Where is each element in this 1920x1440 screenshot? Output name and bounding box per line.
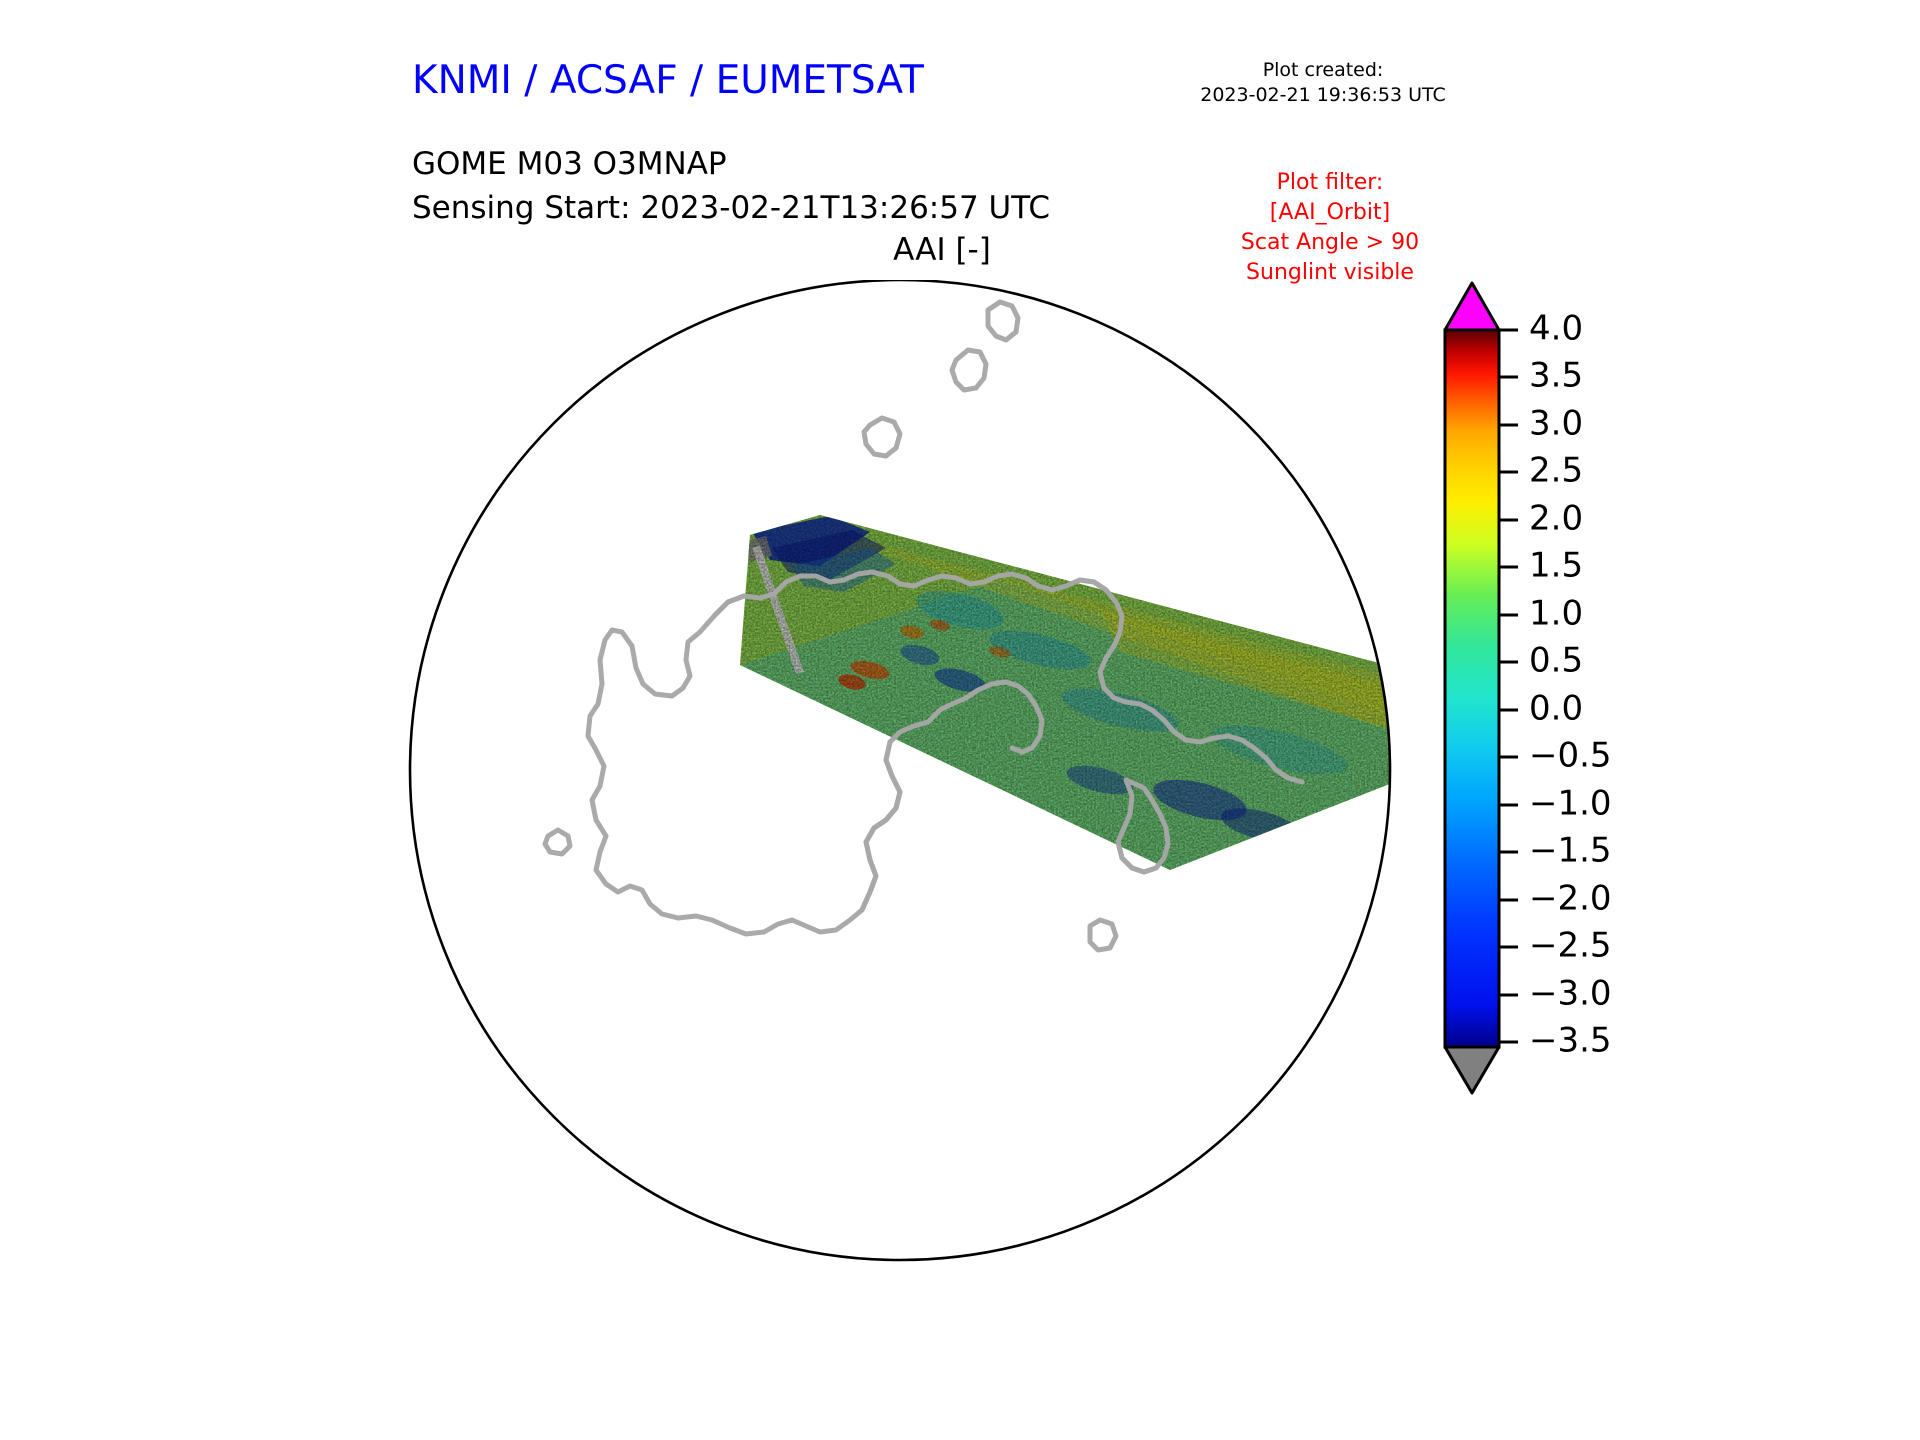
- colorbar-tick-label: 1.5: [1529, 546, 1583, 586]
- map-panel: [400, 280, 1440, 1340]
- colorbar-over-arrow: [1445, 283, 1499, 330]
- colorbar-tick-label: 3.5: [1529, 356, 1583, 396]
- colorbar-tick-label: −3.0: [1529, 974, 1612, 1014]
- colorbar-tick-label: −2.5: [1529, 926, 1612, 966]
- colorbar-tick-label: 1.0: [1529, 594, 1583, 634]
- organization-title: KNMI / ACSAF / EUMETSAT: [412, 58, 924, 103]
- colorbar-ticks: 4.0 3.5 3.0 2.5 2.0 1.5 1.0 0.5 0.0 −0.5…: [1499, 309, 1612, 1061]
- polar-map: [400, 280, 1440, 1340]
- colorbar-tick-label: −3.5: [1529, 1021, 1612, 1061]
- colorbar-panel: 4.0 3.5 3.0 2.5 2.0 1.5 1.0 0.5 0.0 −0.5…: [1425, 275, 1755, 1095]
- plot-filter-name: [AAI_Orbit]: [1180, 198, 1480, 228]
- colorbar-tick-label: 4.0: [1529, 309, 1583, 349]
- plot-created-label: Plot created:: [1168, 58, 1478, 83]
- colorbar-tick-label: −0.5: [1529, 736, 1612, 776]
- colorbar-tick-label: −1.0: [1529, 784, 1612, 824]
- plot-created-timestamp: 2023-02-21 19:36:53 UTC: [1168, 83, 1478, 108]
- colorbar-under-arrow: [1445, 1047, 1499, 1093]
- colorbar-tick-label: 0.0: [1529, 689, 1583, 729]
- colorbar-tick-label: −1.5: [1529, 831, 1612, 871]
- plot-filter-block: Plot filter: [AAI_Orbit] Scat Angle > 90…: [1180, 168, 1480, 288]
- plot-filter-title: Plot filter:: [1180, 168, 1480, 198]
- colorbar-tick-label: 3.0: [1529, 404, 1583, 444]
- quantity-title: AAI [-]: [632, 232, 1252, 268]
- instrument-block: GOME M03 O3MNAP Sensing Start: 2023-02-2…: [412, 142, 1050, 230]
- plot-created-block: Plot created: 2023-02-21 19:36:53 UTC: [1168, 58, 1478, 108]
- plot-page: KNMI / ACSAF / EUMETSAT Plot created: 20…: [0, 0, 1920, 1440]
- colorbar-tick-label: 2.0: [1529, 499, 1583, 539]
- colorbar-gradient: [1445, 330, 1499, 1047]
- colorbar-tick-label: 0.5: [1529, 641, 1583, 681]
- colorbar-tick-label: −2.0: [1529, 879, 1612, 919]
- colorbar-tick-label: 2.5: [1529, 451, 1583, 491]
- plot-filter-condition: Scat Angle > 90: [1180, 228, 1480, 258]
- instrument-name: GOME M03 O3MNAP: [412, 142, 1050, 186]
- sensing-start: Sensing Start: 2023-02-21T13:26:57 UTC: [412, 186, 1050, 230]
- colorbar: 4.0 3.5 3.0 2.5 2.0 1.5 1.0 0.5 0.0 −0.5…: [1425, 275, 1755, 1095]
